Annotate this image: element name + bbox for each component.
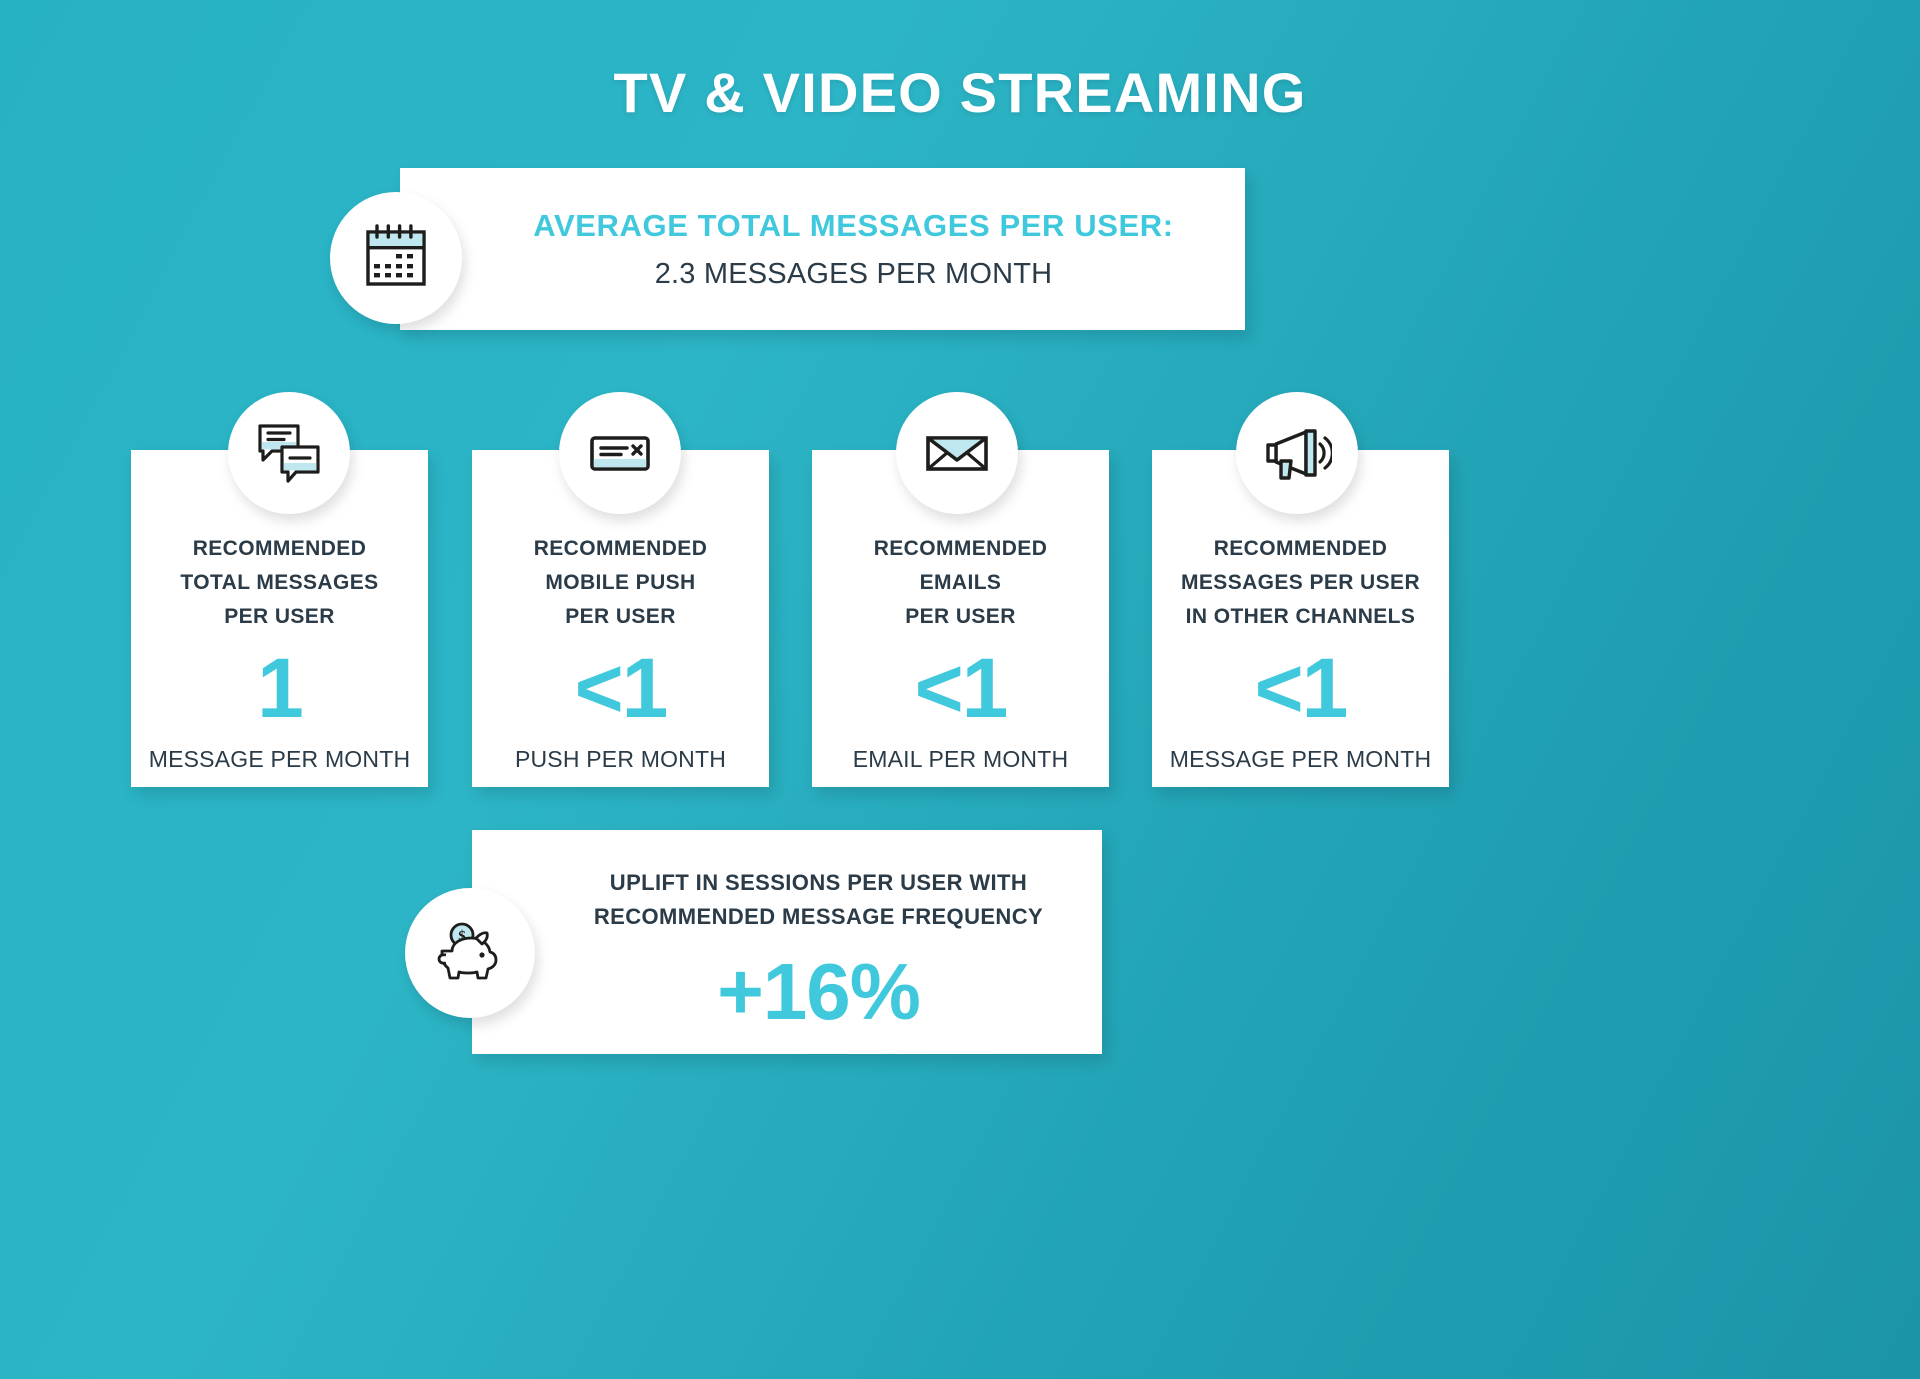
chat-bubbles-icon [254,418,324,488]
uplift-text-block: UPLIFT IN SESSIONS PER USER WITH RECOMME… [535,830,1102,1054]
stat-unit: MESSAGE PER MONTH [149,746,411,773]
stat-label: RECOMMENDED MESSAGES PER USER IN OTHER C… [1181,532,1420,634]
stat-value: <1 [575,646,667,730]
stat-label: RECOMMENDED EMAILS PER USER [874,532,1048,634]
stat-label-line: PER USER [534,600,708,634]
megaphone-icon [1262,418,1332,488]
stat-value: <1 [915,646,1007,730]
chat-bubbles-icon-badge [228,392,350,514]
stat-label-line: RECOMMENDED [1181,532,1420,566]
envelope-icon [922,418,992,488]
stat-label-line: TOTAL MESSAGES [180,566,378,600]
megaphone-icon-badge [1236,392,1358,514]
calendar-icon [359,221,433,295]
stat-unit: EMAIL PER MONTH [853,746,1069,773]
uplift-heading: UPLIFT IN SESSIONS PER USER WITH RECOMME… [594,866,1043,934]
uplift-value: +16% [717,952,920,1032]
page-title: TV & VIDEO STREAMING [0,60,1920,125]
stat-label-line: MOBILE PUSH [534,566,708,600]
stat-unit: PUSH PER MONTH [515,746,726,773]
push-notification-icon [585,418,655,488]
stat-label-line: RECOMMENDED [180,532,378,566]
stat-label-line: PER USER [180,600,378,634]
uplift-heading-line: UPLIFT IN SESSIONS PER USER WITH [594,866,1043,900]
stat-value: <1 [1255,646,1347,730]
stat-label-line: EMAILS [874,566,1048,600]
stat-label-line: MESSAGES PER USER [1181,566,1420,600]
piggy-bank-icon: $ [432,915,508,991]
envelope-icon-badge [896,392,1018,514]
stat-label: RECOMMENDED MOBILE PUSH PER USER [534,532,708,634]
stat-label-line: RECOMMENDED [874,532,1048,566]
push-notification-icon-badge [559,392,681,514]
uplift-heading-line: RECOMMENDED MESSAGE FREQUENCY [594,900,1043,934]
stat-label-line: PER USER [874,600,1048,634]
banner-text-block: AVERAGE TOTAL MESSAGES PER USER: 2.3 MES… [462,168,1245,330]
banner-heading: AVERAGE TOTAL MESSAGES PER USER: [533,208,1173,244]
stat-label: RECOMMENDED TOTAL MESSAGES PER USER [180,532,378,634]
piggy-bank-icon-badge: $ [405,888,535,1018]
stat-value: 1 [257,646,302,730]
banner-subheading: 2.3 MESSAGES PER MONTH [655,258,1053,291]
stat-unit: MESSAGE PER MONTH [1170,746,1432,773]
stat-label-line: IN OTHER CHANNELS [1181,600,1420,634]
calendar-icon-badge [330,192,462,324]
stat-label-line: RECOMMENDED [534,532,708,566]
